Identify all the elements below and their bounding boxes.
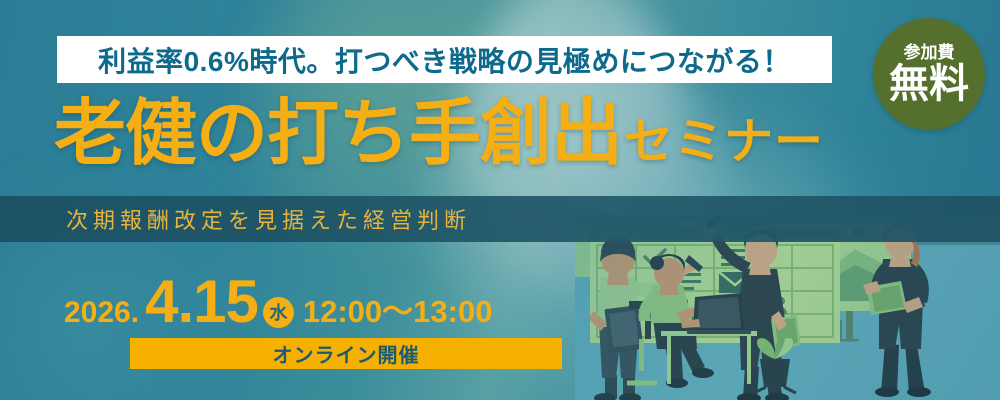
free-badge: 参加費 無料	[873, 18, 985, 130]
page-title: 老健の打ち手創出 セミナー	[54, 98, 824, 170]
subtitle-text: 利益率0.6%時代。打つべき戦略の見極めにつながる！	[98, 40, 791, 80]
seminar-banner: 次期報酬改定を見据えた経営判断 利益率0.6%時代。打つべき戦略の見極めにつなが…	[0, 0, 1000, 400]
schedule-day: 4.15	[145, 272, 258, 332]
free-badge-value: 無料	[889, 64, 969, 104]
illustration	[575, 215, 1000, 400]
format-bar: オンライン開催	[130, 338, 562, 369]
format-bar-text: オンライン開催	[273, 339, 420, 368]
free-badge-label: 参加費	[904, 44, 955, 61]
schedule-day-of-week-badge: 水	[263, 297, 294, 328]
schedule: 2026. 4.15 水 12:00〜13:00	[64, 272, 492, 332]
title-suffix-text: セミナー	[624, 118, 824, 167]
subtitle-box: 利益率0.6%時代。打つべき戦略の見極めにつながる！	[57, 36, 832, 83]
tagline-text: 次期報酬改定を見据えた経営判断	[0, 196, 1000, 242]
schedule-year: 2026.	[64, 296, 139, 330]
title-main-text: 老健の打ち手創出	[54, 98, 622, 170]
schedule-time: 12:00〜13:00	[303, 286, 493, 331]
